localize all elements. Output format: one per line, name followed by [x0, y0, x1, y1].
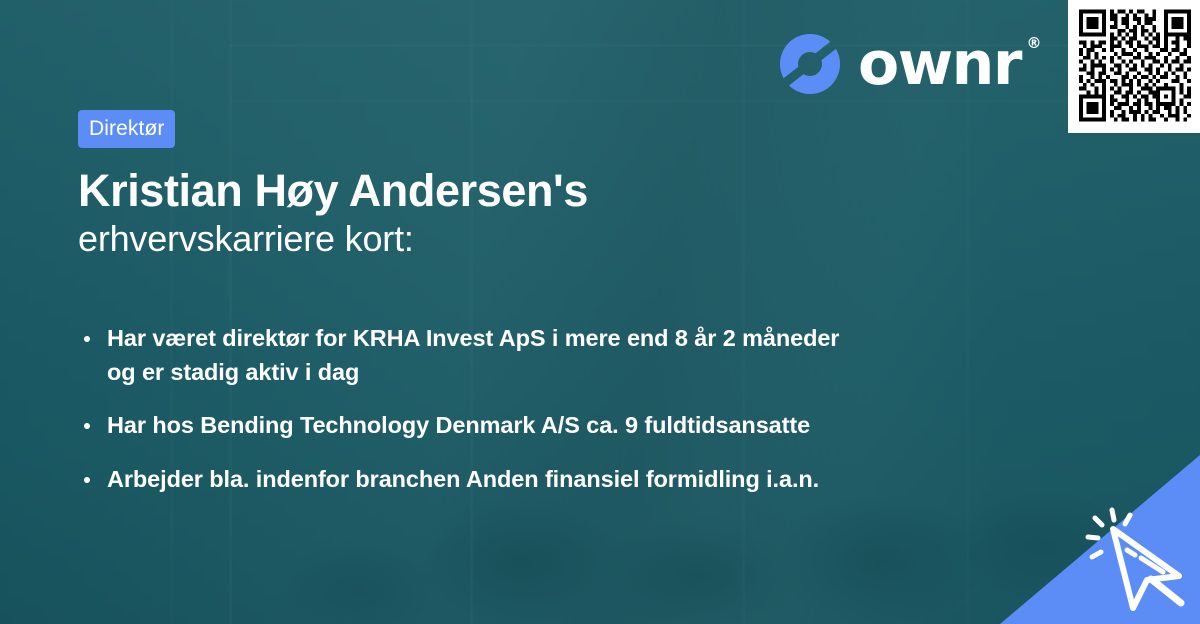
page-title-line2: erhvervskarriere kort:: [78, 216, 950, 261]
career-facts-list: Har været direktør for KRHA Invest ApS i…: [78, 322, 950, 496]
ownr-career-card: ownr ® Direktør Kristian Høy Andersen's …: [0, 0, 1200, 624]
qr-code-panel[interactable]: [1068, 0, 1200, 133]
role-badge: Direktør: [78, 110, 175, 148]
ownr-circle-logo-icon: [778, 32, 842, 96]
page-title-line1: Kristian Høy Andersen's: [78, 167, 950, 216]
list-item: Har været direktør for KRHA Invest ApS i…: [78, 322, 852, 389]
click-cursor-icon: [1083, 504, 1195, 614]
ownr-wordmark-text: ownr: [858, 29, 1021, 99]
page-title: Kristian Høy Andersen's erhvervskarriere…: [78, 167, 950, 261]
ownr-logo[interactable]: ownr ®: [778, 31, 1021, 97]
qr-code[interactable]: [1079, 9, 1191, 122]
registered-trademark-icon: ®: [1026, 36, 1040, 51]
list-item: Har hos Bending Technology Denmark A/S c…: [78, 409, 852, 443]
card-content: Direktør Kristian Høy Andersen's erhverv…: [78, 110, 950, 496]
list-item: Arbejder bla. indenfor branchen Anden fi…: [78, 463, 852, 497]
ownr-wordmark: ownr ®: [858, 34, 1021, 94]
